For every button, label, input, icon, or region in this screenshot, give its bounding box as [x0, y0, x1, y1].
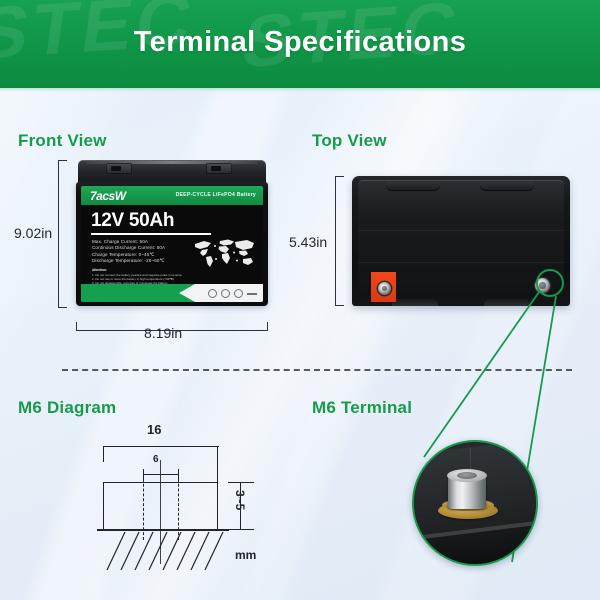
weee-icon	[234, 289, 243, 298]
terminal-thread-hole	[457, 472, 477, 479]
m6-unit-label: mm	[235, 548, 256, 562]
m6-hole-dim-line	[143, 474, 179, 475]
battery-top-body	[352, 176, 570, 306]
recycle-bar-icon	[247, 293, 257, 295]
m6-height-label: 3~5	[233, 490, 247, 510]
top-depth-dim-line	[335, 176, 336, 306]
label-chemistry: DEEP-CYCLE LiFePO4 Battery	[176, 192, 256, 198]
front-height-dim-tick-top	[58, 160, 67, 161]
front-height-label: 9.02in	[14, 225, 52, 241]
terminal-recess-right	[206, 163, 232, 174]
page-header: STEC STEC Terminal Specifications	[0, 0, 600, 88]
label-notes-title: Attention:	[92, 268, 188, 272]
top-depth-label: 5.43in	[289, 234, 327, 250]
label-spec-item: Discharge Temperature: -20~60℃	[92, 258, 165, 264]
section-title-m6-terminal: M6 Terminal	[312, 398, 412, 418]
section-title-top-view: Top View	[312, 131, 387, 151]
top-depth-dim-tick-top	[335, 176, 344, 177]
header-edge-fade	[0, 88, 600, 92]
ce-icon	[208, 289, 217, 298]
m6-width-dim-line	[103, 446, 219, 447]
front-view-battery: 7acsW DEEP-CYCLE LiFePO4 Battery 12V 50A…	[76, 160, 268, 308]
front-width-dim-tick-left	[76, 322, 77, 331]
section-title-m6-diagram: M6 Diagram	[18, 398, 116, 418]
front-height-dim-line	[58, 160, 59, 308]
infographic-page: STEC STEC Terminal Specifications Front …	[0, 0, 600, 600]
label-model: 12V 50Ah	[91, 210, 174, 232]
m6-width-tick-left	[103, 446, 104, 462]
battery-seam	[358, 230, 564, 231]
base-notch-left	[392, 299, 438, 306]
battery-front-body: 7acsW DEEP-CYCLE LiFePO4 Battery 12V 50A…	[76, 182, 268, 306]
m6-width-tick-right	[217, 446, 218, 482]
handle-notch-left	[386, 182, 440, 191]
terminal-negative-icon	[378, 282, 391, 295]
front-width-label: 8.19in	[144, 325, 182, 341]
certification-icons	[208, 289, 257, 298]
battery-label: 7acsW DEEP-CYCLE LiFePO4 Battery 12V 50A…	[81, 186, 263, 302]
m6-diagram: 16 6 3~5	[95, 424, 275, 564]
m6-hole-label: 6	[153, 454, 159, 465]
front-height-dim-tick-bottom	[58, 307, 67, 308]
top-view-battery	[352, 168, 570, 308]
world-map-icon	[191, 236, 257, 270]
front-width-dim-tick-right	[267, 322, 268, 331]
page-title: Terminal Specifications	[0, 26, 600, 59]
top-depth-dim-tick-bottom	[335, 305, 344, 306]
terminal-recess-left	[106, 163, 132, 174]
section-divider	[62, 369, 572, 371]
magnifier-circle-icon	[412, 440, 538, 566]
label-bottom-strip	[81, 284, 263, 302]
label-underline	[91, 233, 211, 235]
rohs-icon	[221, 289, 230, 298]
label-spec-item: Continous Discharge Current: 50A	[92, 245, 165, 251]
label-brand-band: 7acsW DEEP-CYCLE LiFePO4 Battery	[81, 186, 263, 205]
handle-notch-right	[480, 182, 534, 191]
section-title-front-view: Front View	[18, 131, 107, 151]
label-bolt-shape	[81, 284, 195, 302]
m6-width-label: 16	[147, 422, 161, 437]
m6-hatch-pattern	[103, 530, 225, 570]
battery-seam	[358, 262, 564, 263]
terminal-positive-icon	[535, 278, 550, 293]
label-spec-list: Max. Charge Current: 50A Continous Disch…	[92, 239, 165, 265]
base-notch-right	[484, 299, 530, 306]
brand-logo: 7acsW	[90, 189, 126, 203]
